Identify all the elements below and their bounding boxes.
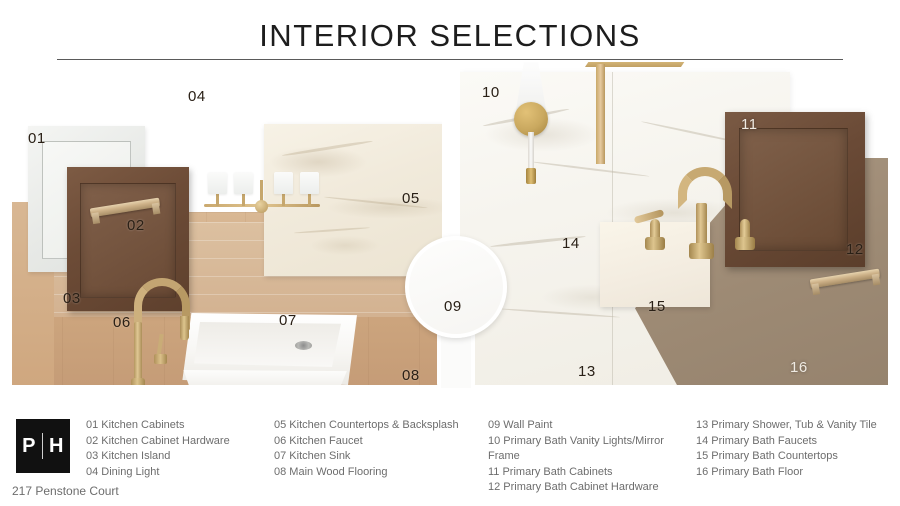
logo-divider: [42, 433, 43, 459]
bath-mirror-frame-corner: [588, 62, 684, 168]
marker-09: 09: [444, 298, 462, 315]
wall-paint-swatch: [405, 236, 507, 338]
marker-15: 15: [648, 298, 666, 315]
marker-12: 12: [846, 241, 864, 258]
legend-item: 06 Kitchen Faucet: [274, 434, 488, 450]
logo-letter-h: H: [49, 436, 64, 456]
logo-letter-p: P: [22, 436, 36, 456]
legend-item: 08 Main Wood Flooring: [274, 465, 488, 481]
marker-08: 08: [402, 367, 420, 384]
legend-item: 12 Primary Bath Cabinet Hardware: [488, 480, 696, 496]
legend-item: 02 Kitchen Cabinet Hardware: [86, 434, 274, 450]
marker-01: 01: [28, 130, 46, 147]
legend-item: 11 Primary Bath Cabinets: [488, 465, 696, 481]
bath-vanity-sconce-light: [508, 62, 554, 197]
marker-07: 07: [279, 312, 297, 329]
legend-column-2: 05 Kitchen Countertops & Backsplash 06 K…: [274, 418, 488, 496]
marker-06: 06: [113, 314, 131, 331]
kitchen-collage: 01 02 03 04 05 06 07 08: [12, 62, 442, 385]
marker-14: 14: [562, 235, 580, 252]
legend-item: 01 Kitchen Cabinets: [86, 418, 274, 434]
marker-11: 11: [741, 116, 758, 133]
marker-10: 10: [482, 84, 500, 101]
legend-item: 16 Primary Bath Floor: [696, 465, 892, 481]
marker-02: 02: [127, 217, 145, 234]
project-address: 217 Penstone Court: [12, 484, 119, 498]
legend: 01 Kitchen Cabinets 02 Kitchen Cabinet H…: [86, 418, 892, 496]
company-logo: P H: [16, 419, 70, 473]
kitchen-sink: [177, 313, 357, 385]
marker-03: 03: [63, 290, 81, 307]
primary-bath-collage: 10 11 12 13 14 15 16: [460, 62, 888, 385]
legend-item: 04 Dining Light: [86, 465, 274, 481]
marker-16: 16: [790, 359, 808, 376]
legend-item: 07 Kitchen Sink: [274, 449, 488, 465]
title-divider: [57, 59, 843, 60]
legend-column-4: 13 Primary Shower, Tub & Vanity Tile 14 …: [696, 418, 892, 496]
dining-light-chandelier: [202, 162, 322, 222]
legend-item: 09 Wall Paint: [488, 418, 696, 434]
marker-04: 04: [188, 88, 206, 105]
legend-item: 14 Primary Bath Faucets: [696, 434, 892, 450]
legend-item: 15 Primary Bath Countertops: [696, 449, 892, 465]
marker-13: 13: [578, 363, 596, 380]
selections-board: INTERIOR SELECTIONS: [0, 0, 900, 506]
legend-item: 05 Kitchen Countertops & Backsplash: [274, 418, 488, 434]
page-title: INTERIOR SELECTIONS: [0, 20, 900, 51]
legend-item: 03 Kitchen Island: [86, 449, 274, 465]
bath-faucet: [656, 167, 766, 287]
legend-item: 10 Primary Bath Vanity Lights/Mirror Fra…: [488, 434, 696, 465]
legend-column-3: 09 Wall Paint 10 Primary Bath Vanity Lig…: [488, 418, 696, 496]
marker-05: 05: [402, 190, 420, 207]
legend-item: 13 Primary Shower, Tub & Vanity Tile: [696, 418, 892, 434]
kitchen-faucet: [130, 278, 194, 385]
